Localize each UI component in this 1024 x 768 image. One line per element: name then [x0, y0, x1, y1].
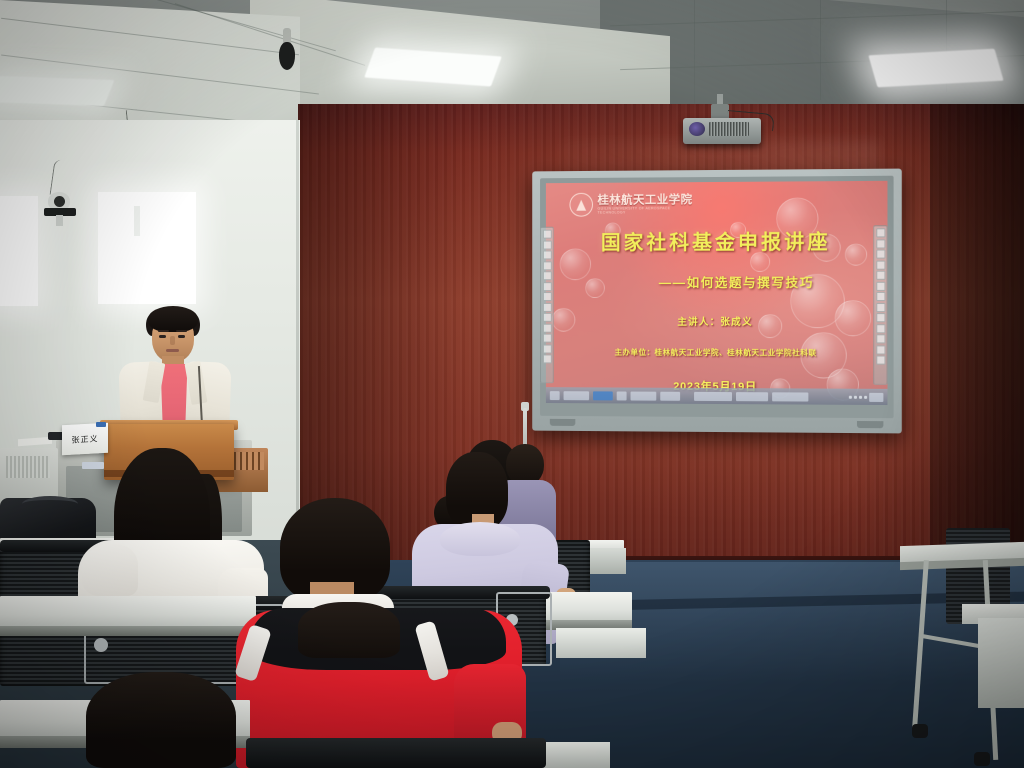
- desk-caster: [974, 752, 990, 766]
- whiteboard-toolbar-left[interactable]: [540, 227, 554, 384]
- toolbar-button[interactable]: [876, 292, 885, 301]
- toolbar-button[interactable]: [542, 344, 551, 353]
- bag-strap: [22, 496, 78, 512]
- slide-speaker-line: 主讲人：张成义: [546, 314, 888, 328]
- taskbar-item[interactable]: [660, 391, 680, 400]
- taskbar-start-button[interactable]: [550, 391, 560, 400]
- toolbar-button[interactable]: [876, 313, 885, 322]
- taskbar-tray[interactable]: [849, 392, 884, 401]
- ceiling-grid-line: [820, 0, 821, 100]
- toolbar-button[interactable]: [542, 302, 551, 311]
- taskbar-item[interactable]: [772, 392, 808, 401]
- whiteboard-tray-right: [857, 421, 883, 428]
- slide-title: 国家社科基金申报讲座: [546, 225, 888, 255]
- window-right: [98, 192, 196, 304]
- whiteboard-toolbar-right[interactable]: [873, 225, 887, 385]
- lecture-hall-photo: 桂林航天工业学院 GUILIN UNIVERSITY OF AEROSPACE …: [0, 0, 1024, 768]
- ceiling-light-panel: [868, 49, 1003, 88]
- toolbar-button[interactable]: [876, 271, 885, 280]
- chair-knob: [94, 638, 108, 652]
- toolbar-button[interactable]: [876, 281, 885, 290]
- security-camera-icon: [42, 192, 78, 226]
- taskbar-item[interactable]: [694, 391, 732, 400]
- ceiling-grid-line: [694, 0, 695, 108]
- university-emblem-icon: [569, 193, 592, 217]
- toolbar-button[interactable]: [542, 292, 551, 301]
- nameplate-text: 张正义: [72, 433, 99, 445]
- toolbar-button[interactable]: [542, 313, 551, 322]
- toolbar-button[interactable]: [542, 261, 551, 270]
- taskbar-item[interactable]: [631, 391, 657, 400]
- tray-icon[interactable]: [849, 395, 852, 398]
- logo-name-cn: 桂林航天工业学院: [597, 194, 698, 206]
- toolbar-button[interactable]: [876, 334, 885, 343]
- tray-icon[interactable]: [859, 395, 862, 398]
- slide-subtitle: ——如何选题与撰写技巧: [546, 272, 888, 291]
- ceiling-dome-sensor-icon: [278, 28, 296, 72]
- window-left: [0, 196, 38, 306]
- toolbar-button[interactable]: [542, 334, 551, 343]
- wall-corner-seam: [296, 120, 299, 550]
- desk-edge: [0, 626, 256, 636]
- toolbar-button[interactable]: [876, 303, 885, 312]
- slide-text-block: 国家社科基金申报讲座 ——如何选题与撰写技巧 主讲人：张成义 主办单位：桂林航天…: [546, 225, 888, 395]
- toolbar-button[interactable]: [542, 271, 551, 280]
- desk-middle-front: [556, 628, 646, 658]
- toolbar-button[interactable]: [542, 354, 551, 363]
- toolbar-button[interactable]: [542, 230, 551, 239]
- toolbar-button[interactable]: [876, 239, 885, 248]
- desk-caster: [912, 724, 928, 738]
- logo-name-en: GUILIN UNIVERSITY OF AEROSPACE TECHNOLOG…: [597, 207, 698, 215]
- toolbar-button[interactable]: [876, 249, 885, 258]
- whiteboard-tray-left: [550, 419, 576, 426]
- university-logo: 桂林航天工业学院 GUILIN UNIVERSITY OF AEROSPACE …: [569, 190, 698, 219]
- tray-icon[interactable]: [854, 395, 857, 398]
- toolbar-button[interactable]: [876, 356, 885, 365]
- tray-clock[interactable]: [869, 392, 883, 401]
- toolbar-button[interactable]: [876, 345, 885, 354]
- ceiling-projector-icon: [683, 110, 761, 144]
- windows-taskbar[interactable]: [546, 387, 888, 405]
- tray-icon[interactable]: [864, 395, 867, 398]
- toolbar-button[interactable]: [876, 324, 885, 333]
- taskbar-item[interactable]: [736, 392, 768, 401]
- toolbar-button[interactable]: [876, 228, 885, 237]
- empty-desk-right-3: [978, 618, 1024, 708]
- toolbar-button[interactable]: [542, 323, 551, 332]
- attendee-red-polo: [236, 498, 526, 768]
- ceiling-light-panel: [0, 76, 114, 106]
- chair-top-rail-front: [246, 738, 546, 768]
- taskbar-item-active[interactable]: [593, 391, 613, 400]
- toolbar-button[interactable]: [542, 282, 551, 291]
- slide-organizer-line: 主办单位：桂林航天工业学院、桂林航天工业学院社科联: [546, 347, 888, 359]
- wood-wall-right-shadow: [930, 104, 1024, 574]
- attendee-foreground-head: [86, 672, 236, 768]
- taskbar-item[interactable]: [564, 391, 590, 400]
- interactive-whiteboard[interactable]: 桂林航天工业学院 GUILIN UNIVERSITY OF AEROSPACE …: [532, 169, 902, 434]
- taskbar-item[interactable]: [617, 391, 627, 400]
- nameplate-clip: [96, 422, 106, 427]
- toolbar-button[interactable]: [876, 260, 885, 269]
- speaker-grille: [6, 456, 50, 478]
- desk-row-2: [0, 596, 256, 630]
- toolbar-button[interactable]: [542, 250, 551, 259]
- projection-screen[interactable]: 桂林航天工业学院 GUILIN UNIVERSITY OF AEROSPACE …: [546, 181, 888, 405]
- toolbar-button[interactable]: [542, 240, 551, 249]
